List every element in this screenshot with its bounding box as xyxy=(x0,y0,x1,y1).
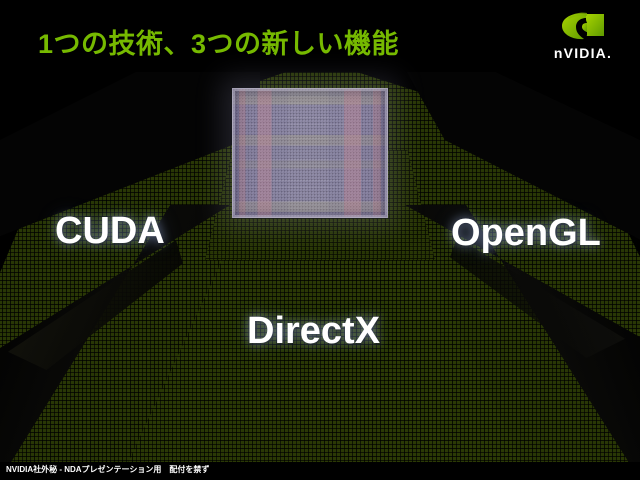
api-label-cuda: CUDA xyxy=(55,210,165,253)
gpu-die-photo xyxy=(232,88,388,218)
confidentiality-footer: NVIDIA社外秘 - NDAプレゼンテーション用 配付を禁ず xyxy=(6,464,209,475)
page-title: 1つの技術、3つの新しい機能 xyxy=(38,22,399,61)
nvidia-logo: nVIDIA. xyxy=(540,10,626,66)
api-label-opengl: OpenGL xyxy=(451,212,601,255)
gpu-die-border xyxy=(232,88,388,218)
api-label-directx: DirectX xyxy=(247,310,380,353)
presentation-slide: 1つの技術、3つの新しい機能 nVIDIA. CUDA OpenGL Direc… xyxy=(0,0,640,480)
nvidia-eye-icon xyxy=(560,10,606,44)
nvidia-wordmark: nVIDIA. xyxy=(540,45,626,61)
